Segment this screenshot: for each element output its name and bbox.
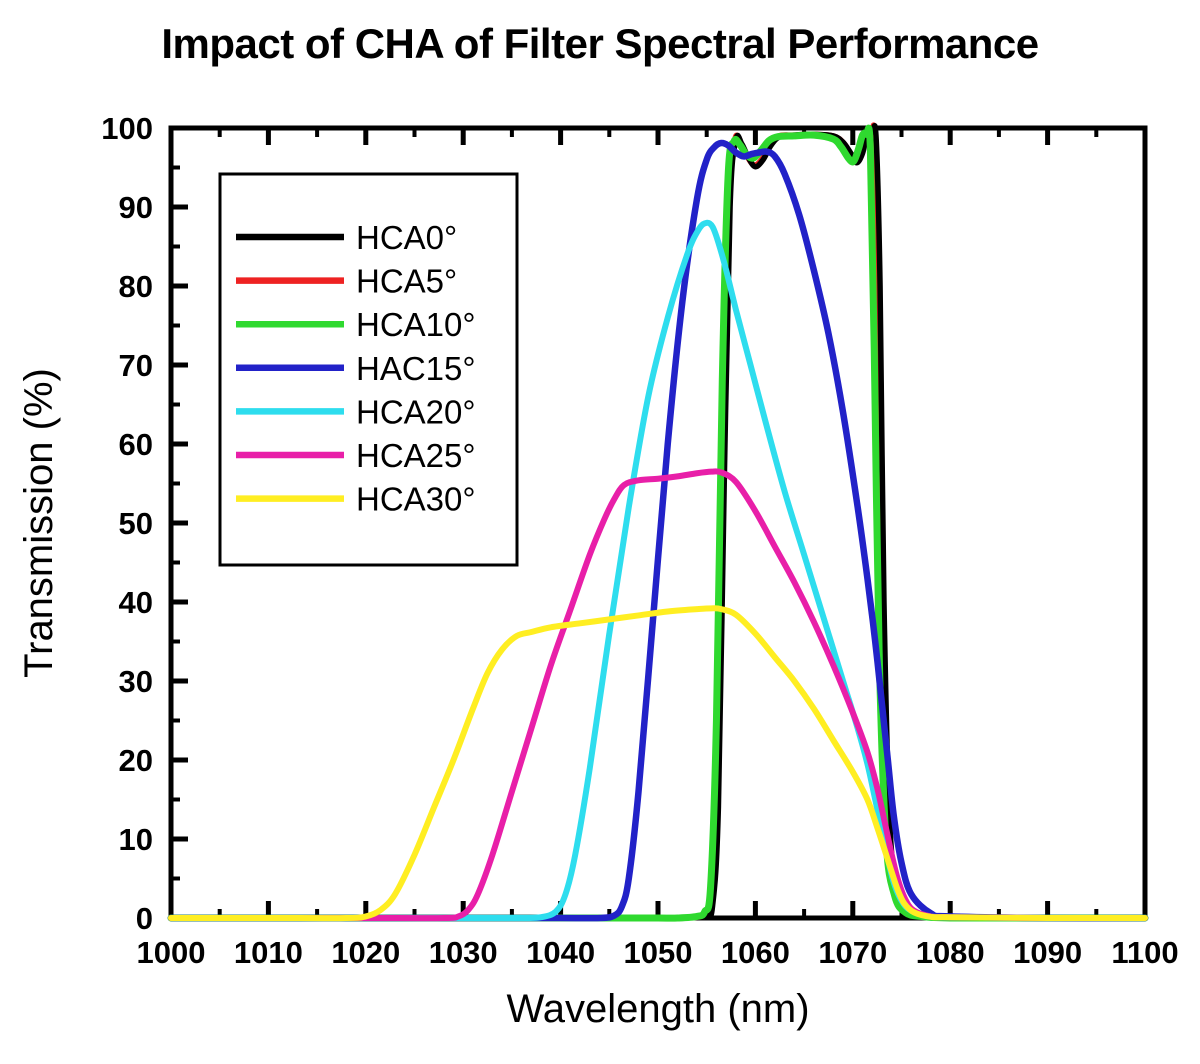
y-tick-label: 100 (101, 111, 153, 146)
x-tick-label: 1100 (1111, 935, 1178, 970)
y-tick-label: 70 (119, 348, 153, 383)
legend: HCA0°HCA5°HCA10°HAC15°HCA20°HCA25°HCA30° (220, 174, 517, 565)
x-tick-label: 1070 (818, 935, 887, 970)
x-tick-label: 1010 (234, 935, 303, 970)
x-tick-label: 1080 (916, 935, 985, 970)
x-axis-tick-labels: 1000101010201030104010501060107010801090… (137, 935, 1179, 970)
y-tick-label: 80 (119, 269, 153, 304)
y-axis-tick-labels: 0102030405060708090100 (101, 111, 153, 936)
legend-label-hca25[interactable]: HCA25° (356, 437, 476, 474)
y-tick-label: 60 (119, 427, 153, 462)
x-tick-label: 1000 (137, 935, 206, 970)
y-axis-title: Transmission (%) (17, 368, 61, 678)
x-tick-label: 1030 (429, 935, 498, 970)
x-tick-label: 1040 (526, 935, 595, 970)
legend-label-hca0[interactable]: HCA0° (356, 219, 457, 256)
chart-container: Impact of CHA of Filter Spectral Perform… (0, 0, 1200, 1064)
chart-plot: 1000101010201030104010501060107010801090… (0, 0, 1200, 1064)
y-tick-label: 30 (119, 664, 153, 699)
y-tick-label: 0 (136, 901, 153, 936)
y-tick-label: 20 (119, 743, 153, 778)
legend-label-hca5[interactable]: HCA5° (356, 263, 457, 300)
legend-label-hca30[interactable]: HCA30° (356, 481, 476, 518)
x-tick-label: 1020 (331, 935, 400, 970)
y-tick-label: 40 (119, 585, 153, 620)
legend-label-hac15[interactable]: HAC15° (356, 350, 476, 387)
x-tick-label: 1090 (1013, 935, 1082, 970)
y-tick-label: 10 (119, 822, 153, 857)
legend-label-hca20[interactable]: HCA20° (356, 393, 476, 430)
y-tick-label: 50 (119, 506, 153, 541)
legend-label-hca10[interactable]: HCA10° (356, 306, 476, 343)
x-tick-label: 1050 (624, 935, 693, 970)
x-tick-label: 1060 (721, 935, 790, 970)
y-tick-label: 90 (119, 190, 153, 225)
x-axis-title: Wavelength (nm) (506, 987, 809, 1031)
